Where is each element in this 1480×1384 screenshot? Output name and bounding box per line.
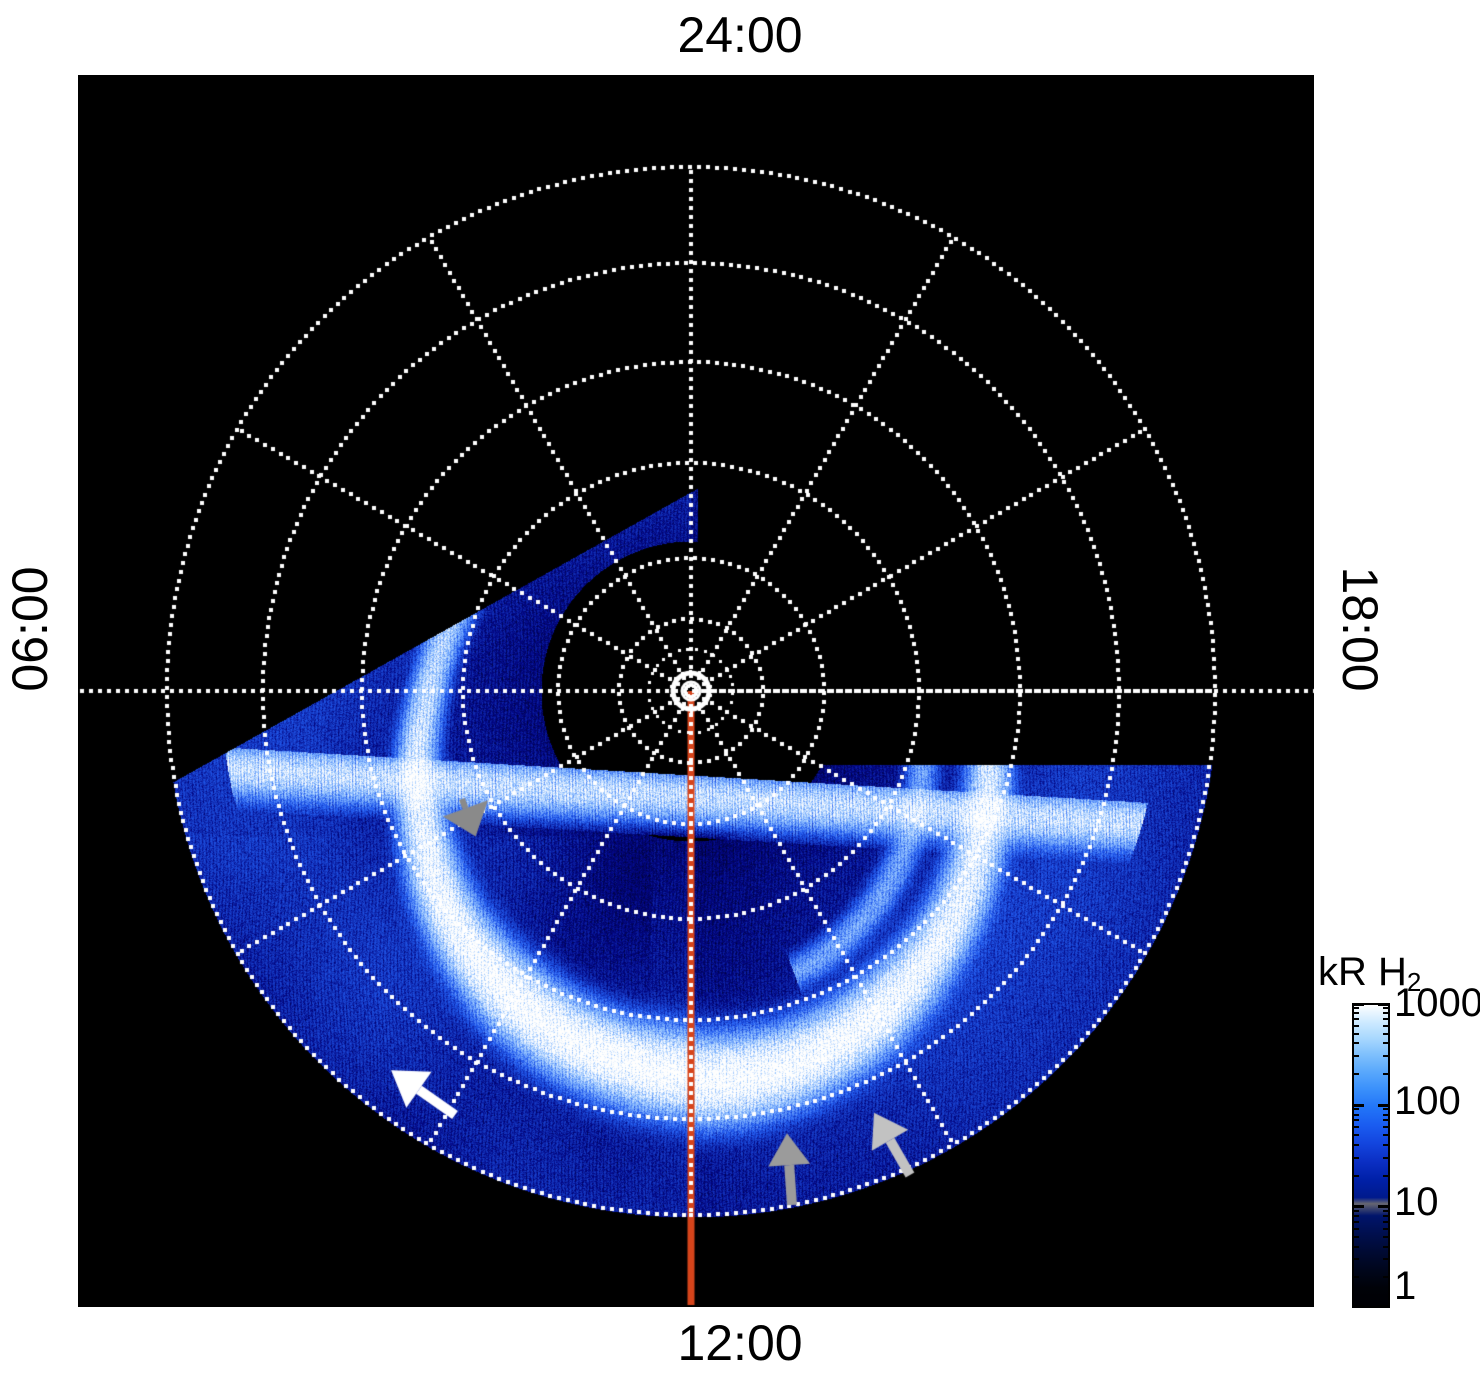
colorbar-minor-tick (1383, 1157, 1390, 1159)
axis-label-bottom: 12:00 (0, 1314, 1480, 1372)
colorbar-major-tick (1378, 1104, 1390, 1107)
colorbar-minor-tick (1352, 1007, 1359, 1009)
axis-label-right: 18:00 (1331, 539, 1389, 719)
colorbar-major-tick (1352, 1003, 1364, 1006)
colorbar-minor-tick (1383, 1042, 1390, 1044)
colorbar-minor-tick (1383, 1246, 1390, 1248)
colorbar-major-tick (1352, 1205, 1364, 1208)
colorbar-minor-tick (1352, 1228, 1359, 1230)
polar-plot-area (78, 75, 1314, 1307)
colorbar-minor-tick (1352, 1012, 1359, 1014)
colorbar-minor-tick (1383, 1236, 1390, 1238)
colorbar-minor-tick (1352, 1073, 1359, 1075)
axis-label-left: 06:00 (1, 539, 59, 719)
colorbar-tick-label-1000: 1000 (1394, 981, 1480, 1026)
colorbar-minor-tick (1352, 1246, 1359, 1248)
colorbar-minor-tick (1383, 1055, 1390, 1057)
colorbar-minor-tick (1383, 1033, 1390, 1035)
colorbar-minor-tick (1383, 1073, 1390, 1075)
colorbar-minor-tick (1352, 1236, 1359, 1238)
colorbar-minor-tick (1383, 1114, 1390, 1116)
colorbar-minor-tick (1383, 1126, 1390, 1128)
colorbar-minor-tick (1383, 1175, 1390, 1177)
colorbar-tick-label-1: 1 (1394, 1264, 1416, 1309)
colorbar-minor-tick (1383, 1215, 1390, 1217)
axis-label-top: 24:00 (0, 6, 1480, 64)
colorbar-minor-tick (1352, 1025, 1359, 1027)
colorbar-minor-tick (1383, 1210, 1390, 1212)
colorbar-minor-tick (1352, 1119, 1359, 1121)
colorbar-minor-tick (1352, 1042, 1359, 1044)
colorbar-minor-tick (1352, 1033, 1359, 1035)
colorbar-minor-tick (1383, 1228, 1390, 1230)
colorbar-minor-tick (1352, 1144, 1359, 1146)
colorbar-minor-tick (1352, 1258, 1359, 1260)
colorbar-major-tick (1378, 1205, 1390, 1208)
colorbar-tick-label-10: 10 (1394, 1180, 1439, 1225)
colorbar-minor-tick (1383, 1012, 1390, 1014)
colorbar-minor-tick (1383, 1108, 1390, 1110)
colorbar-major-tick (1352, 1305, 1364, 1308)
colorbar-minor-tick (1352, 1157, 1359, 1159)
colorbar-minor-tick (1383, 1007, 1390, 1009)
colorbar-minor-tick (1352, 1114, 1359, 1116)
colorbar-minor-tick (1352, 1055, 1359, 1057)
colorbar-minor-tick (1383, 1221, 1390, 1223)
colorbar-minor-tick (1352, 1108, 1359, 1110)
colorbar-minor-tick (1383, 1144, 1390, 1146)
colorbar-minor-tick (1383, 1258, 1390, 1260)
colorbar-tick-label-100: 100 (1394, 1079, 1461, 1124)
colorbar-minor-tick (1352, 1276, 1359, 1278)
colorbar-minor-tick (1352, 1215, 1359, 1217)
colorbar-minor-tick (1352, 1018, 1359, 1020)
colorbar-group: kR H2 1000 100 10 1 (1318, 950, 1480, 1320)
colorbar-minor-tick (1352, 1134, 1359, 1136)
colorbar-minor-tick (1383, 1134, 1390, 1136)
colorbar-minor-tick (1383, 1025, 1390, 1027)
colorbar-major-tick (1378, 1003, 1390, 1006)
colorbar-minor-tick (1383, 1018, 1390, 1020)
colorbar-minor-tick (1352, 1221, 1359, 1223)
colorbar-minor-tick (1352, 1175, 1359, 1177)
colorbar-major-tick (1378, 1305, 1390, 1308)
colorbar-minor-tick (1383, 1119, 1390, 1121)
colorbar-ticks (1352, 1003, 1390, 1308)
polar-grid-overlay (78, 75, 1314, 1307)
colorbar-major-tick (1352, 1104, 1364, 1107)
colorbar-minor-tick (1352, 1210, 1359, 1212)
colorbar-minor-tick (1383, 1276, 1390, 1278)
colorbar-minor-tick (1352, 1126, 1359, 1128)
